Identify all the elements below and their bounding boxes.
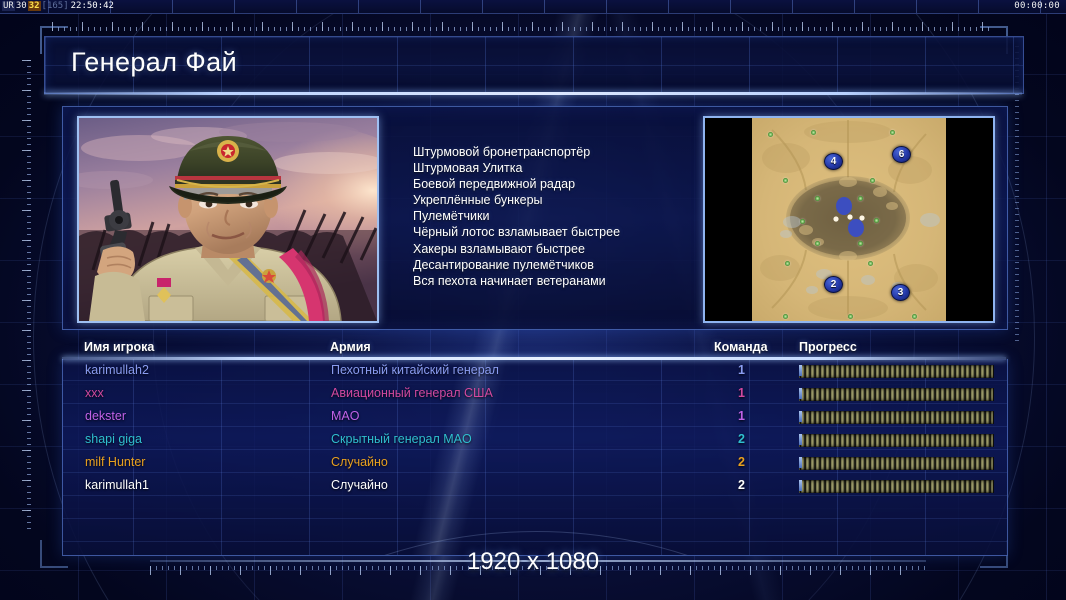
player-team: 1 [738,409,745,423]
minimap-image: 465231 [752,118,946,321]
ability-item: Вся пехота начинает ветеранами [413,273,733,289]
general-abilities-list: Штурмовой бронетранспортёр Штурмовая Ули… [413,144,733,289]
perf-value-c: [165] [41,1,70,11]
player-army: Скрытный генерал MAO [331,432,472,446]
column-header-progress: Прогресс [799,340,857,354]
title-panel: Генерал Фай [44,36,1024,94]
resource-dot [785,261,790,266]
player-progress-bar [799,388,994,401]
progress-bar-cap [799,434,802,445]
resource-dot [868,261,873,266]
minimap-start-position[interactable]: 2 [824,276,843,293]
player-team: 2 [738,455,745,469]
ability-item: Десантирование пулемётчиков [413,257,733,273]
resource-dot [815,241,820,246]
table-row[interactable]: karimullah1Случайно2 [63,475,1007,498]
player-team: 1 [738,386,745,400]
session-timer: 22:50:42 [70,1,115,11]
resource-dot [874,218,879,223]
table-row[interactable]: karimullah2Пехотный китайский генерал1 [63,360,1007,383]
player-army: MAO [331,409,359,423]
resource-dot [800,219,805,224]
ability-item: Хакеры взламывают быстрее [413,241,733,257]
player-name: karimullah2 [85,363,149,377]
resource-dot [783,314,788,319]
performance-counter: UR3032[165]22:50:42 [2,0,115,13]
player-name: xxx [85,386,104,400]
player-team: 2 [738,432,745,446]
column-header-team: Команда [714,340,768,354]
player-name: shapi giga [85,432,142,446]
ruler-top [52,22,994,31]
player-army: Пехотный китайский генерал [331,363,499,377]
minimap-start-position[interactable]: 6 [892,146,911,163]
player-army: Случайно [331,455,388,469]
resolution-label: 1920 x 1080 [0,548,1066,576]
ability-item: Штурмовая Улитка [413,160,733,176]
status-bar-grid [0,0,1066,13]
ruler-left [22,60,31,530]
table-row[interactable]: deksterMAO1 [63,406,1007,429]
progress-bar-cap [799,365,802,376]
player-progress-bar [799,411,994,424]
ability-item: Пулемётчики [413,208,733,224]
player-progress-bar [799,480,994,493]
general-portrait-frame [77,116,379,323]
ability-item: Укреплённые бункеры [413,192,733,208]
player-name: dekster [85,409,126,423]
ability-item: Штурмовой бронетранспортёр [413,144,733,160]
progress-bar-cap [799,480,802,491]
minimap-frame[interactable]: 465231 [703,116,995,323]
table-row[interactable]: shapi gigaСкрытный генерал MAO2 [63,429,1007,452]
progress-bar-cap [799,457,802,468]
player-name: milf Hunter [85,455,145,469]
player-army: Случайно [331,478,388,492]
table-header-divider [62,357,1006,360]
table-row[interactable]: xxxАвиационный генерал США1 [63,383,1007,406]
resource-dot [870,178,875,183]
general-portrait-image [79,118,377,321]
minimap-start-position[interactable]: 3 [891,284,910,301]
progress-bar-cap [799,388,802,399]
perf-value-a: 30 [15,1,28,11]
perf-label: UR [2,1,15,11]
minimap-start-position[interactable]: 4 [824,153,843,170]
resource-dot [783,178,788,183]
column-header-army: Армия [330,340,371,354]
general-info-panel: Штурмовой бронетранспортёр Штурмовая Ули… [62,106,1008,330]
perf-value-b: 32 [28,1,41,11]
player-table-headers: Имя игрока Армия Команда Прогресс [62,340,1006,358]
resource-dot [858,241,863,246]
column-header-player-name: Имя игрока [84,340,154,354]
top-status-bar: UR3032[165]22:50:42 00:00:00 [0,0,1066,14]
resource-dot [848,314,853,319]
resource-dot [768,132,773,137]
resource-dot [811,130,816,135]
player-progress-bar [799,365,994,378]
resource-dot [858,196,863,201]
player-army: Авиационный генерал США [331,386,493,400]
player-team: 1 [738,363,745,377]
table-row[interactable]: milf HunterСлучайно2 [63,452,1007,475]
player-name: karimullah1 [85,478,149,492]
minimap-terrain [752,118,946,321]
resource-dot [890,130,895,135]
player-progress-bar [799,457,994,470]
progress-bar-cap [799,411,802,422]
resource-dot [912,314,917,319]
title-underline [44,92,1022,95]
ability-item: Чёрный лотос взламывает быстрее [413,224,733,240]
game-clock: 00:00:00 [1014,0,1060,13]
player-table: karimullah2Пехотный китайский генерал1xx… [62,359,1008,556]
player-progress-bar [799,434,994,447]
resource-dot [815,196,820,201]
player-team: 2 [738,478,745,492]
page-title: Генерал Фай [71,47,237,78]
abilities-ul: Штурмовой бронетранспортёр Штурмовая Ули… [413,144,733,289]
ability-item: Боевой передвижной радар [413,176,733,192]
game-lobby-screen: UR3032[165]22:50:42 00:00:00 Генерал Фай [0,0,1066,600]
